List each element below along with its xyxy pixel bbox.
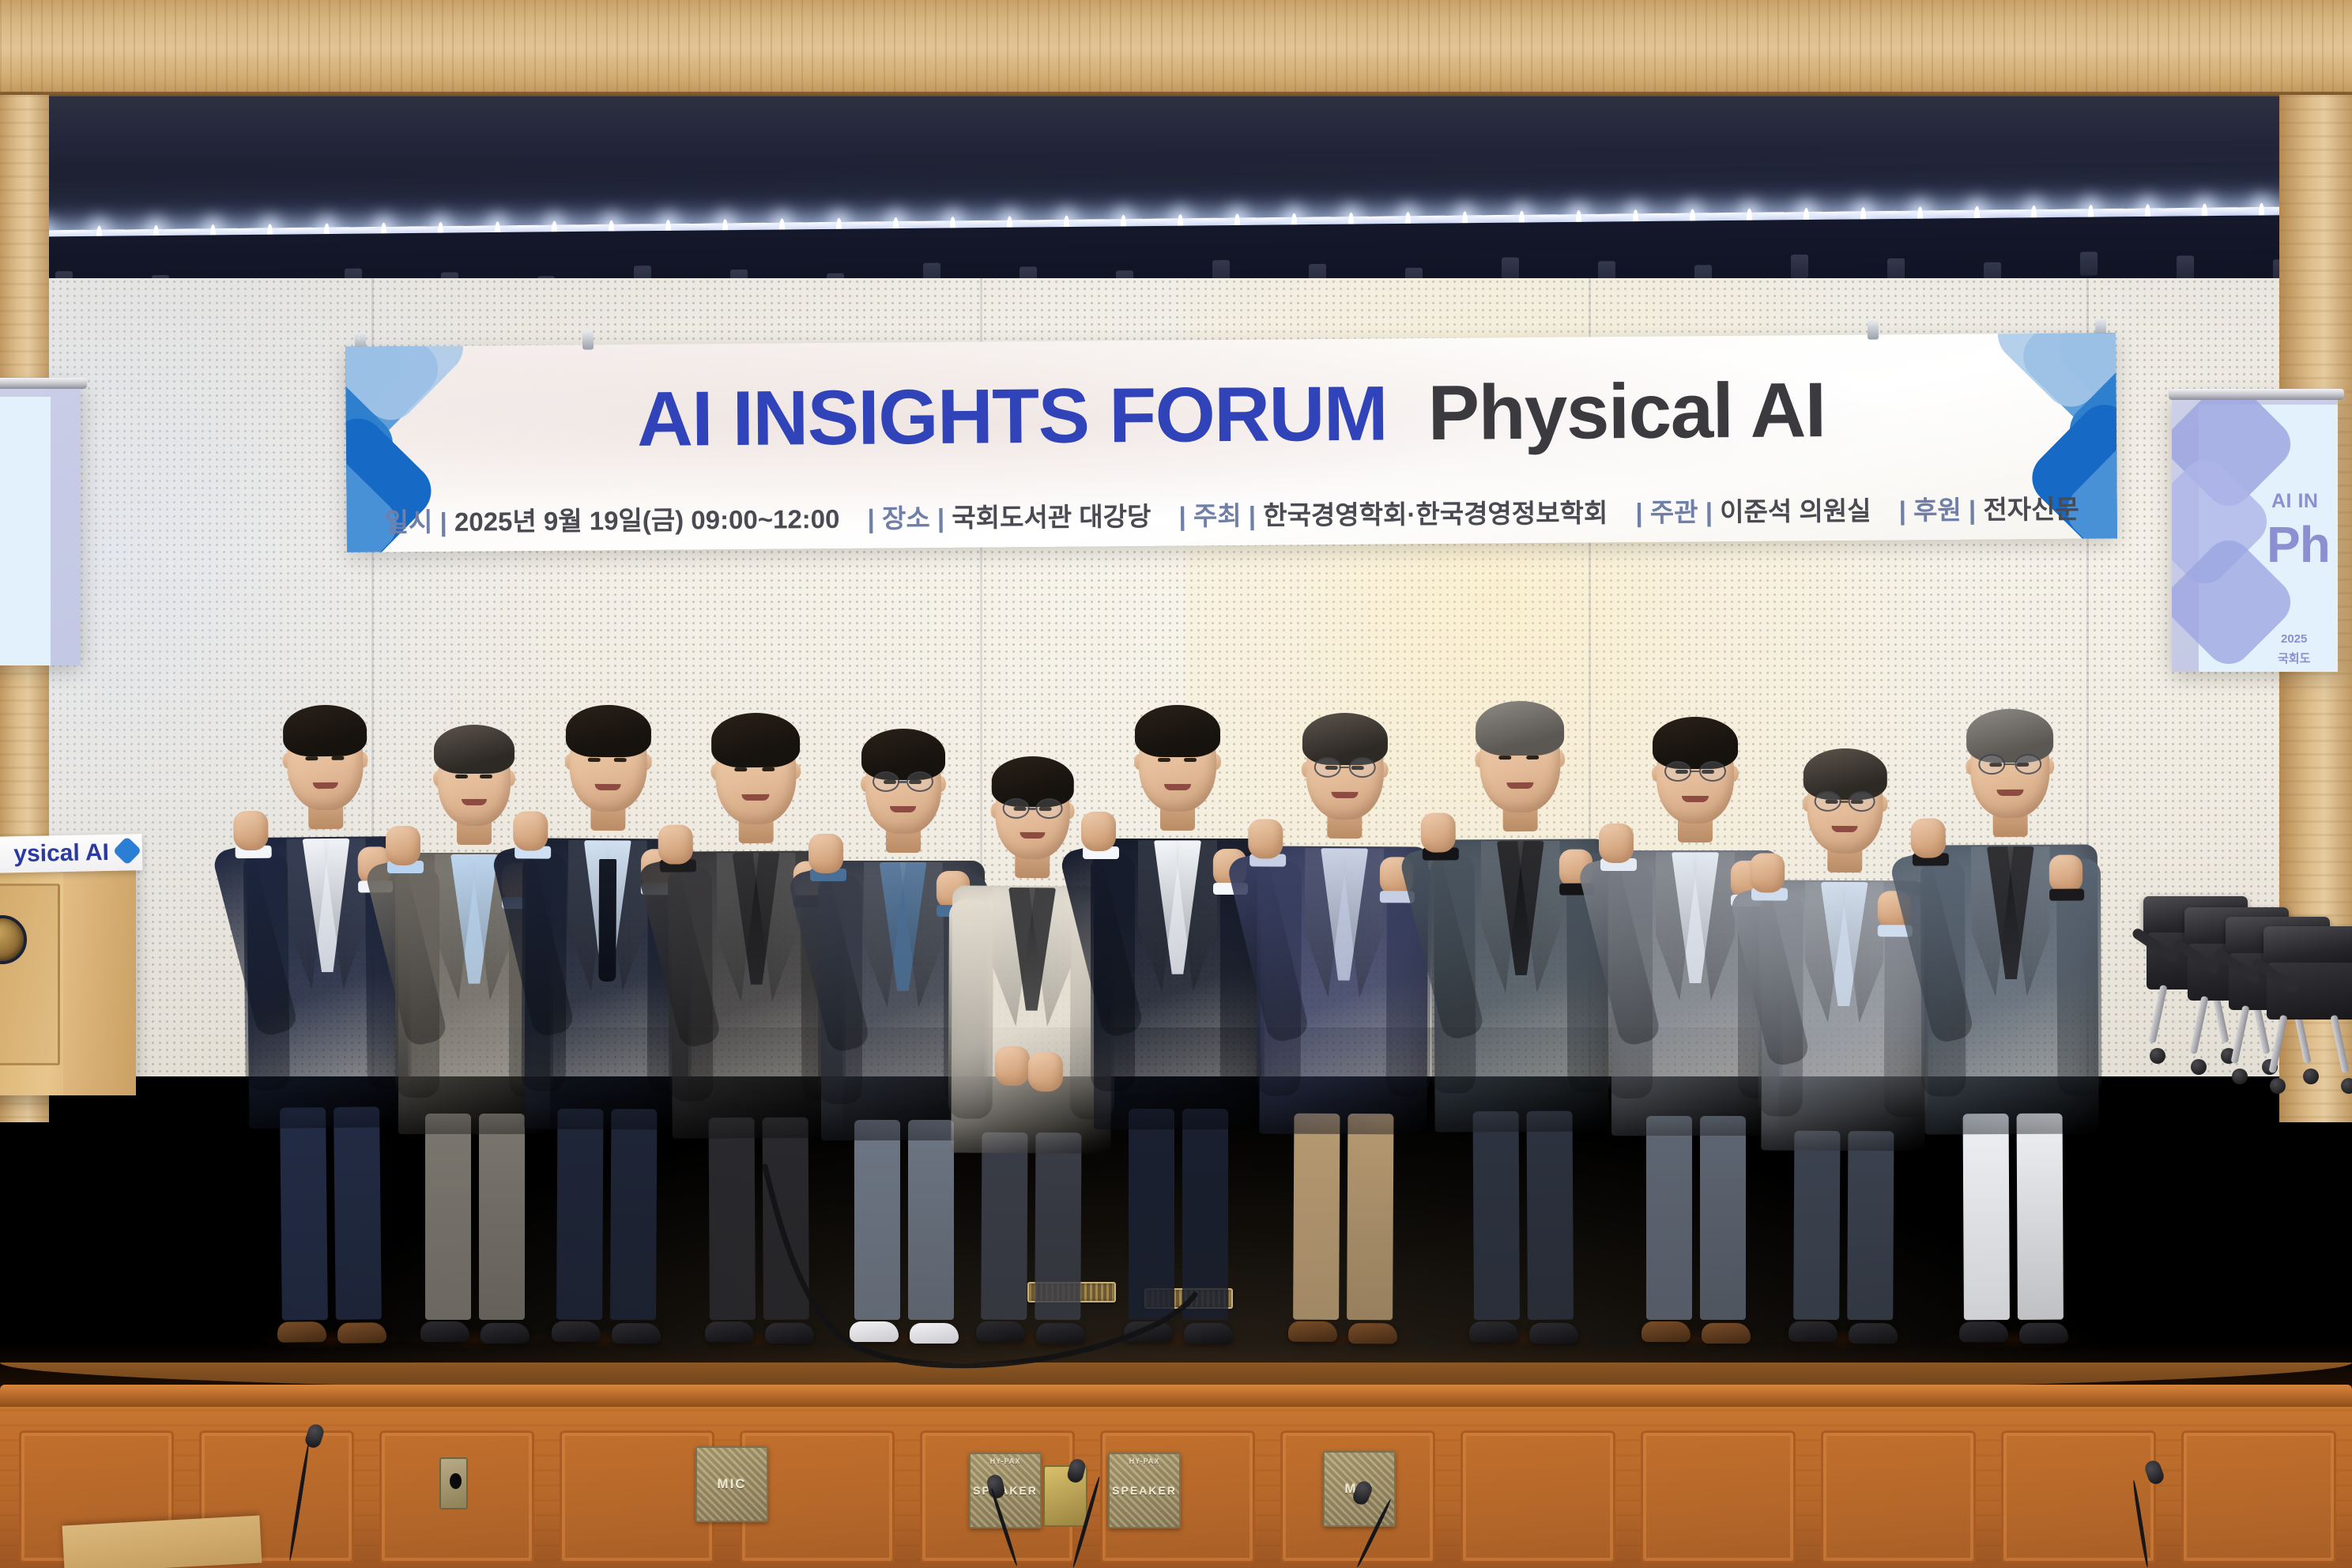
podium-banner-chevron-icon	[113, 836, 142, 865]
shoe	[611, 1323, 660, 1344]
detail-value-organizer: 이준석 의원실	[1720, 496, 1871, 527]
shoe	[1288, 1321, 1337, 1342]
plate-top-text: HY-PAX	[971, 1457, 1040, 1465]
slide-right: AI IN Ph 2025 국회도	[2199, 405, 2338, 672]
speaker-port-plate[interactable]: HY-PAX SPEAKER	[969, 1453, 1042, 1528]
shoe	[1959, 1321, 2008, 1342]
mouth	[462, 799, 486, 805]
port-hole-icon	[450, 1473, 462, 1489]
detail-value-sponsor: 전자신문	[1983, 495, 2079, 525]
banner-title-physical-ai: Physical AI	[1427, 366, 1826, 456]
detail-label-host: 주최	[1193, 501, 1242, 530]
eyeglasses	[873, 771, 933, 795]
eyeglasses	[1664, 761, 1726, 785]
raised-fist	[2049, 855, 2082, 893]
mouth	[890, 806, 916, 812]
shoe	[1788, 1321, 1837, 1342]
eyeglasses	[1314, 756, 1376, 780]
person-8	[1255, 718, 1432, 1344]
banner-clip	[1868, 321, 1879, 340]
shoe	[2019, 1323, 2068, 1344]
rail-panel	[2001, 1430, 2156, 1563]
eye	[305, 757, 318, 761]
mouth	[594, 784, 620, 790]
banner-details-line: 일시 | 2025년 9월 19일(금) 09:00~12:00 | 장소 | …	[347, 488, 2117, 540]
shoe	[337, 1322, 386, 1344]
stage-floor-cable	[759, 1162, 1201, 1391]
eyeglasses	[1815, 791, 1875, 815]
projection-screen-left	[0, 384, 81, 665]
eyeglasses	[1978, 754, 2041, 778]
slide-title-line1: AI IN	[2271, 490, 2318, 513]
raised-fist	[808, 834, 843, 873]
hair	[1135, 705, 1220, 757]
rail-panel	[1821, 1430, 1976, 1563]
eyeglasses	[1003, 798, 1062, 822]
eye	[455, 775, 468, 778]
person-1	[242, 710, 414, 1344]
rail-panel	[2181, 1430, 2336, 1563]
mouth	[1332, 792, 1358, 798]
mouth	[742, 794, 770, 801]
shirt-cuff	[2049, 889, 2084, 901]
raised-fist	[1420, 812, 1455, 852]
plate-label: SPEAKER	[973, 1484, 1038, 1497]
projection-screen-right: AI IN Ph 2025 국회도	[2172, 395, 2338, 672]
eye	[1526, 756, 1539, 759]
raised-fist	[1910, 818, 1945, 857]
detail-label-date: 일시	[384, 507, 432, 537]
hair	[1476, 701, 1564, 756]
shoe	[551, 1321, 600, 1342]
raised-fist	[1081, 812, 1116, 851]
event-photo-scene: AI IN Ph 2025 국회도 AI INS	[0, 0, 2352, 1568]
eye	[734, 767, 747, 771]
eye	[588, 757, 601, 761]
clasped-hand	[1028, 1052, 1063, 1091]
shoe	[1641, 1321, 1690, 1342]
eye	[1499, 756, 1512, 759]
eye	[331, 756, 344, 760]
plate-top-text: HY-PAX	[1110, 1457, 1179, 1465]
screen-roller-bar-left	[0, 378, 87, 389]
raised-fist	[1249, 820, 1283, 859]
rail-panel	[1461, 1430, 1615, 1563]
shoe	[1529, 1323, 1578, 1344]
mouth	[1020, 832, 1045, 839]
mouth	[312, 782, 338, 789]
small-port-plate[interactable]	[439, 1457, 468, 1510]
clasped-hand	[995, 1046, 1030, 1086]
person-11	[1757, 754, 1930, 1344]
detail-value-host: 한국경영학회·한국경영정보학회	[1263, 498, 1608, 530]
person-10	[1608, 723, 1782, 1344]
detail-label-organizer: 주관	[1650, 497, 1698, 526]
podium-banner-strip: ysical AI	[0, 834, 142, 875]
shoe	[1849, 1323, 1898, 1344]
shoe	[1702, 1323, 1751, 1344]
raised-fist	[386, 826, 420, 865]
podium-banner-text: ysical AI	[13, 839, 109, 868]
eye	[480, 775, 492, 778]
slide-venue-line: 국회도	[2278, 650, 2310, 666]
person-9	[1429, 707, 1614, 1344]
arm-left	[948, 900, 993, 1120]
hair	[710, 713, 799, 768]
rail-panel	[1641, 1430, 1796, 1563]
hair	[565, 705, 650, 758]
detail-label-venue: 장소	[882, 503, 930, 533]
shoe	[704, 1321, 753, 1342]
eye	[614, 758, 627, 762]
shoe	[1469, 1321, 1518, 1342]
raised-fist	[233, 811, 269, 850]
raised-fist	[1599, 824, 1634, 863]
plate-label: MIC	[717, 1476, 746, 1492]
mouth	[1682, 796, 1708, 802]
detail-label-sponsor: 후원	[1913, 496, 1962, 525]
necktie	[598, 859, 616, 982]
rail-panel	[560, 1430, 714, 1563]
person-12	[1919, 714, 2104, 1344]
eye	[762, 767, 775, 771]
mouth	[1832, 826, 1858, 832]
slide-date-line: 2025	[2281, 632, 2307, 646]
banner-title: AI INSIGHTS FORUM Physical AI	[345, 363, 2116, 466]
slide-title-line2: Ph	[2267, 515, 2330, 574]
screen-roller-bar-right	[2169, 389, 2344, 400]
shoe	[420, 1321, 469, 1342]
mouth	[1996, 790, 2023, 796]
eye	[1184, 758, 1197, 762]
banner-clip	[582, 330, 594, 349]
banner-title-forum: AI INSIGHTS FORUM	[637, 369, 1388, 462]
shoe	[277, 1321, 326, 1343]
eye	[1158, 758, 1170, 762]
speaker-port-plate[interactable]: HY-PAX SPEAKER	[1108, 1453, 1181, 1528]
mouth	[1164, 784, 1190, 790]
hair	[283, 704, 367, 756]
hair	[434, 725, 514, 774]
raised-fist	[513, 812, 548, 851]
detail-value-venue: 국회도서관 대강당	[952, 502, 1151, 533]
slide-left	[0, 397, 51, 665]
mic-port-plate[interactable]: MIC	[695, 1446, 768, 1522]
ceiling-wood-panel	[0, 0, 2352, 100]
plate-label: SPEAKER	[1112, 1484, 1177, 1497]
shoe	[1348, 1323, 1397, 1344]
raised-fist	[658, 824, 692, 864]
front-wood-rail: MIC HY-PAX SPEAKER HY-PAX SPEAKER MIC	[0, 1394, 2352, 1568]
detail-value-date: 2025년 9월 19일(금) 09:00~12:00	[454, 504, 840, 537]
raised-fist	[1750, 853, 1785, 892]
event-backdrop-banner: AI INSIGHTS FORUM Physical AI 일시 | 2025년…	[345, 333, 2117, 552]
